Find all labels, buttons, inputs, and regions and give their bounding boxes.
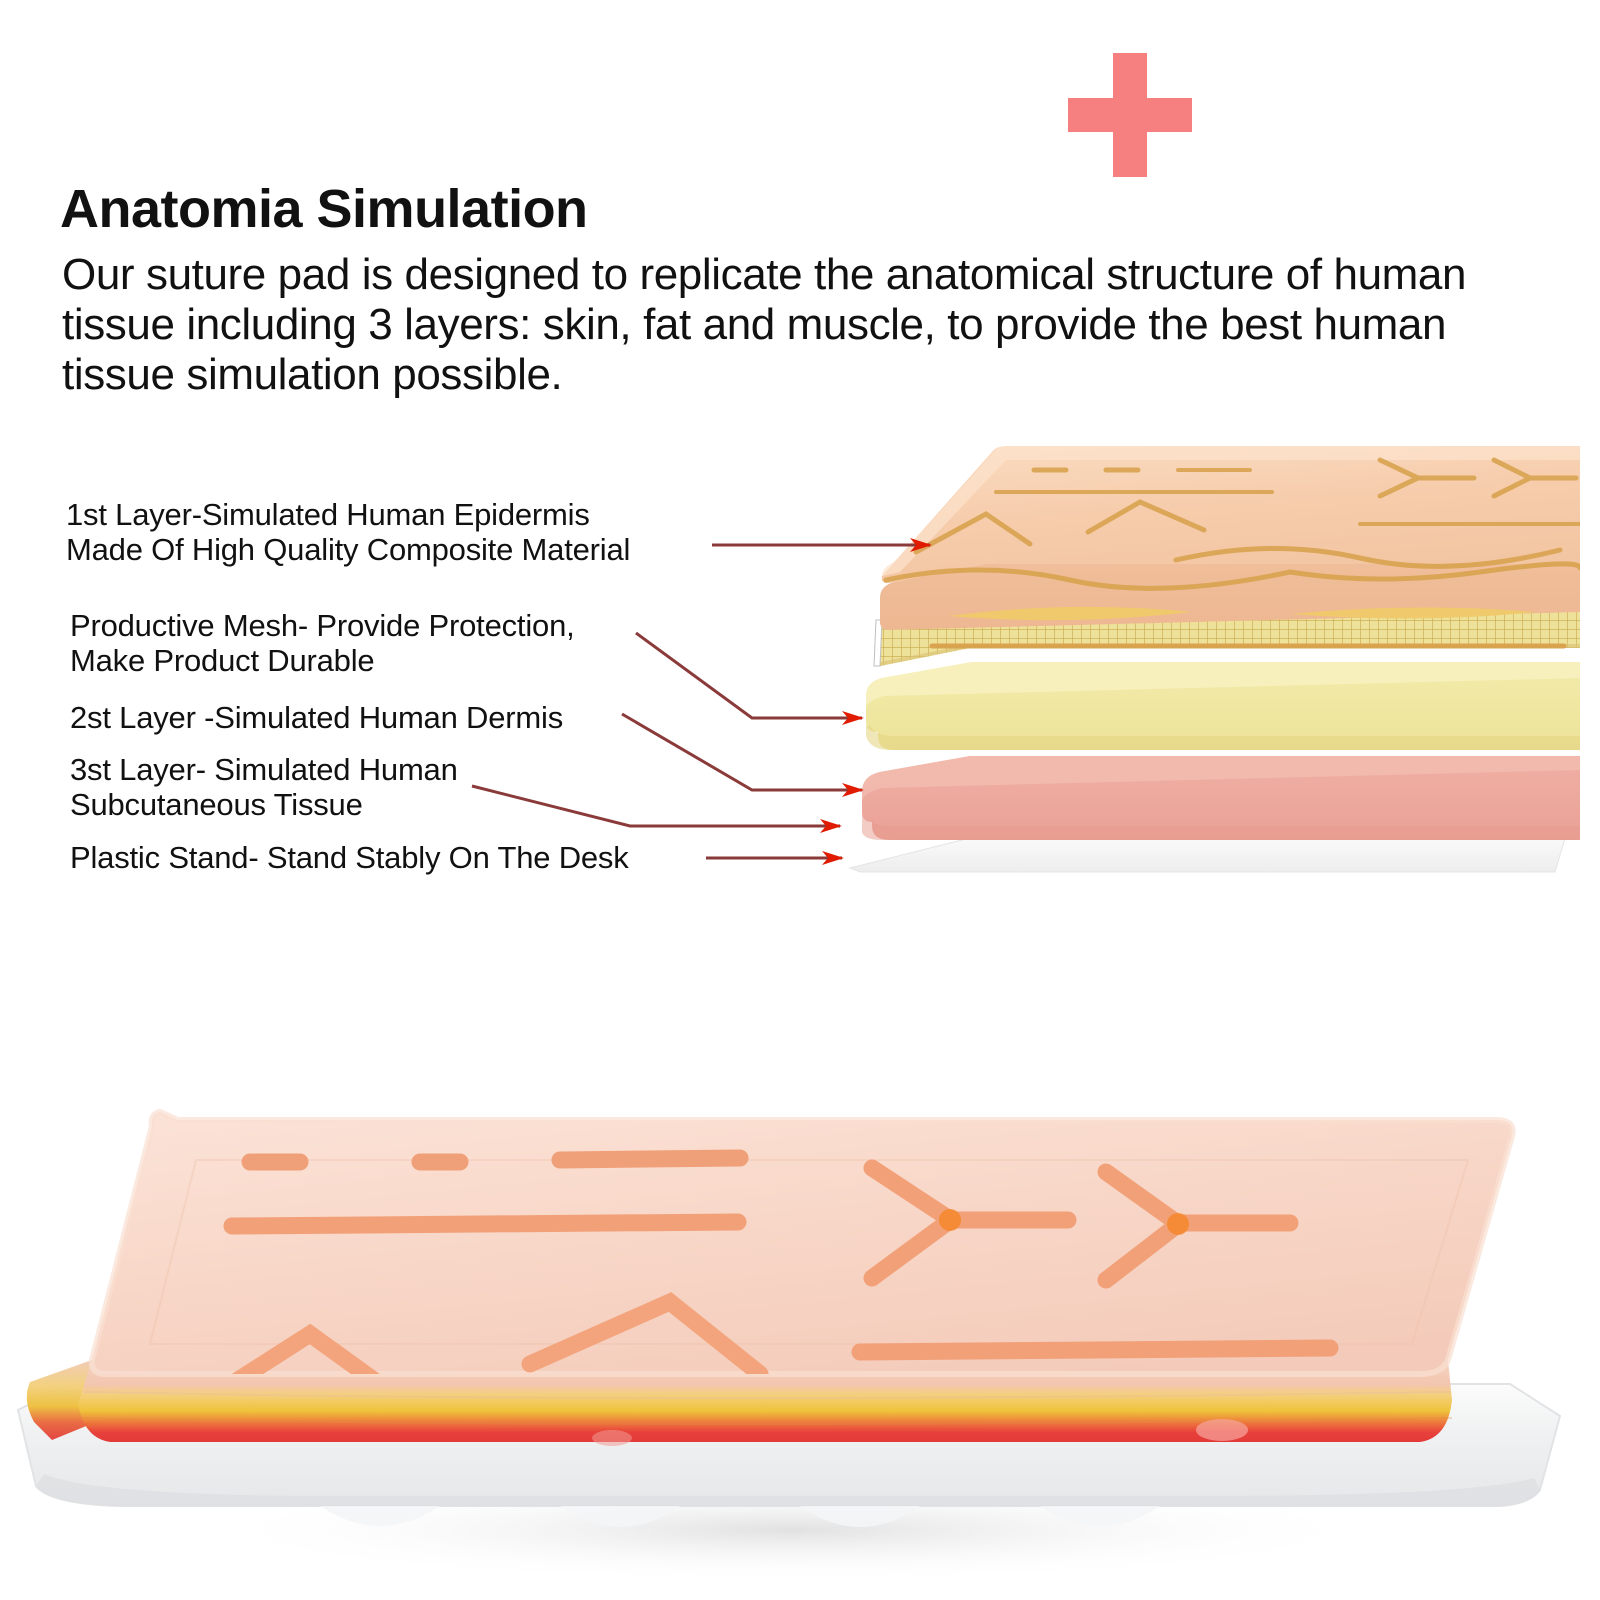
callout-label-dermis: 2st Layer -Simulated Human Dermis [70,700,563,735]
diagram-fat-layer [866,662,1580,750]
exploded-layer-diagram [820,440,1580,910]
callout-label-epidermis: 1st Layer-Simulated Human Epidermis Made… [66,497,630,567]
infographic-page: Anatomia Simulation Our suture pad is de… [0,0,1600,1600]
diagram-muscle-layer [862,756,1580,840]
page-title: Anatomia Simulation [60,182,588,236]
diagram-skin-layer [880,446,1580,646]
medical-cross-icon [1068,53,1192,177]
intro-paragraph: Our suture pad is designed to replicate … [62,250,1482,400]
callout-label-mesh: Productive Mesh- Provide Protection, Mak… [70,608,575,678]
diagram-plastic-base [850,838,1565,872]
leader-line-subcutaneous [472,786,840,826]
suture-pad-product-photo [0,930,1600,1590]
callout-label-plastic-stand: Plastic Stand- Stand Stably On The Desk [70,840,629,875]
callout-label-subcutaneous: 3st Layer- Simulated Human Subcutaneous … [70,752,458,822]
